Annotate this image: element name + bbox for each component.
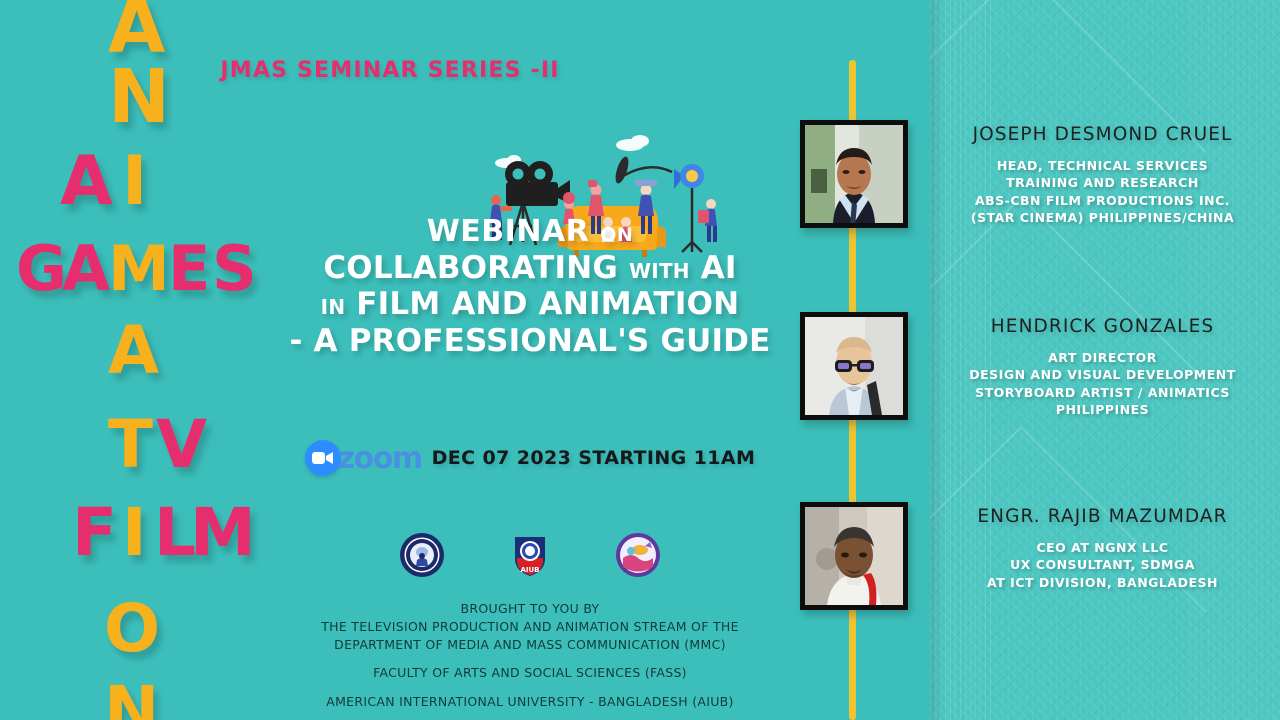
zoom-wordmark: zoom xyxy=(338,441,422,476)
crossword-letter-m-15: M xyxy=(190,500,255,566)
footer-brought-by: BROUGHT TO YOU BY xyxy=(220,600,840,618)
footer-department: DEPARTMENT OF MEDIA AND MASS COMMUNICATI… xyxy=(220,636,840,654)
crossword-letter-o-16: O xyxy=(104,596,159,662)
speaker-role-line: ART DIRECTOR xyxy=(935,349,1270,366)
crossword-letter-i-3: I xyxy=(122,148,146,216)
speaker-card-2: HENDRICK GONZALES ART DIRECTOR DESIGN AN… xyxy=(800,312,1270,452)
title-collaborating: COLLABORATING xyxy=(323,250,618,286)
footer-university: AMERICAN INTERNATIONAL UNIVERSITY - BANG… xyxy=(220,693,840,711)
crossword-letter-n-17: N xyxy=(104,678,158,720)
event-platform-row: zoom DEC 07 2023 STARTING 11AM xyxy=(270,440,790,476)
speaker-role-line: ABS-CBN FILM PRODUCTIONS INC. xyxy=(935,192,1270,209)
speaker-name-2: HENDRICK GONZALES xyxy=(935,316,1270,337)
speaker-name-1: JOSEPH DESMOND CRUEL xyxy=(935,124,1270,145)
crossword-letter-e-7: E xyxy=(168,238,209,300)
webinar-poster: ANAIGAMESATVFILMON JMAS SEMINAR SERIES -… xyxy=(0,0,1280,720)
zoom-logo: zoom xyxy=(305,440,422,476)
aiub-shield-logo: AIUB xyxy=(507,532,553,578)
footer-stream: THE TELEVISION PRODUCTION AND ANIMATION … xyxy=(220,618,840,636)
series-label: JMAS SEMINAR SERIES -II xyxy=(0,58,780,83)
speaker-role-line: STORYBOARD ARTIST / ANIMATICS xyxy=(935,384,1270,401)
institution-logos: AIUB xyxy=(270,532,790,578)
crossword-letter-a-5: A xyxy=(62,238,109,300)
crossword-letter-i-13: I xyxy=(122,500,146,566)
speaker-role-line: DESIGN AND VISUAL DEVELOPMENT xyxy=(935,366,1270,383)
speaker-photo-frame-3 xyxy=(800,502,908,610)
crossword-letter-s-8: S xyxy=(212,238,256,300)
speaker-role-line: UX CONSULTANT, SDMGA xyxy=(935,556,1270,573)
title-film-animation: FILM AND ANIMATION xyxy=(356,286,739,322)
event-datetime: DEC 07 2023 STARTING 11AM xyxy=(432,447,756,469)
speaker-name-3: ENGR. RAJIB MAZUMDAR xyxy=(935,506,1270,527)
title-on: ON xyxy=(600,224,633,246)
speaker-photo-engr-rajib-mazumdar xyxy=(805,507,903,605)
title-ai: AI xyxy=(701,250,737,286)
crossword-letter-a-2: A xyxy=(60,148,112,216)
footer-faculty: FACULTY OF ARTS AND SOCIAL SCIENCES (FAS… xyxy=(220,664,840,682)
speaker-photo-joseph-desmond-cruel xyxy=(805,125,903,223)
title-in: IN xyxy=(321,295,346,319)
crossword-letter-v-11: V xyxy=(156,412,206,478)
crossword-letter-t-10: T xyxy=(108,412,152,478)
title-line-2: COLLABORATING WITH AI xyxy=(270,251,790,286)
speaker-role-line: PHILIPPINES xyxy=(935,401,1270,418)
crossword-letter-l-14: L xyxy=(154,500,195,566)
speaker-card-1: JOSEPH DESMOND CRUEL HEAD, TECHNICAL SER… xyxy=(800,120,1270,260)
crossword-letter-a-9: A xyxy=(108,318,158,384)
speaker-info-2: HENDRICK GONZALES ART DIRECTOR DESIGN AN… xyxy=(935,316,1270,418)
title-with: WITH xyxy=(629,259,690,283)
speaker-role-line: HEAD, TECHNICAL SERVICES xyxy=(935,157,1270,174)
crossword-letter-f-12: F xyxy=(72,500,116,566)
zoom-camera-icon xyxy=(305,440,341,476)
speaker-photo-hendrick-gonzales xyxy=(805,317,903,415)
speaker-role-3: CEO AT NGNX LLC UX CONSULTANT, SDMGA AT … xyxy=(935,539,1270,591)
speaker-role-line: CEO AT NGNX LLC xyxy=(935,539,1270,556)
speaker-photo-frame-1 xyxy=(800,120,908,228)
crossword-letter-g-4: G xyxy=(16,238,66,300)
title-line-4: - A PROFESSIONAL'S GUIDE xyxy=(270,324,790,359)
title-webinar: WEBINAR xyxy=(427,214,590,249)
speaker-role-line: TRAINING AND RESEARCH xyxy=(935,174,1270,191)
svg-text:AIUB: AIUB xyxy=(520,566,539,574)
speaker-role-1: HEAD, TECHNICAL SERVICES TRAINING AND RE… xyxy=(935,157,1270,226)
title-line-1: WEBINAR ON xyxy=(270,215,790,249)
footer-credits: BROUGHT TO YOU BY THE TELEVISION PRODUCT… xyxy=(220,600,840,711)
speaker-role-2: ART DIRECTOR DESIGN AND VISUAL DEVELOPME… xyxy=(935,349,1270,418)
speaker-info-3: ENGR. RAJIB MAZUMDAR CEO AT NGNX LLC UX … xyxy=(935,506,1270,591)
department-seal-logo xyxy=(615,532,661,578)
speaker-role-line: AT ICT DIVISION, BANGLADESH xyxy=(935,574,1270,591)
title-line-3: IN FILM AND ANIMATION xyxy=(270,287,790,322)
crossword-letter-m-6: M xyxy=(108,238,169,300)
webinar-title: WEBINAR ON COLLABORATING WITH AI IN FILM… xyxy=(270,215,790,359)
jmas-seal-logo xyxy=(399,532,445,578)
speaker-photo-frame-2 xyxy=(800,312,908,420)
speaker-info-1: JOSEPH DESMOND CRUEL HEAD, TECHNICAL SER… xyxy=(935,124,1270,226)
speaker-role-line: (STAR CINEMA) PHILIPPINES/CHINA xyxy=(935,209,1270,226)
speaker-card-3: ENGR. RAJIB MAZUMDAR CEO AT NGNX LLC UX … xyxy=(800,502,1270,642)
